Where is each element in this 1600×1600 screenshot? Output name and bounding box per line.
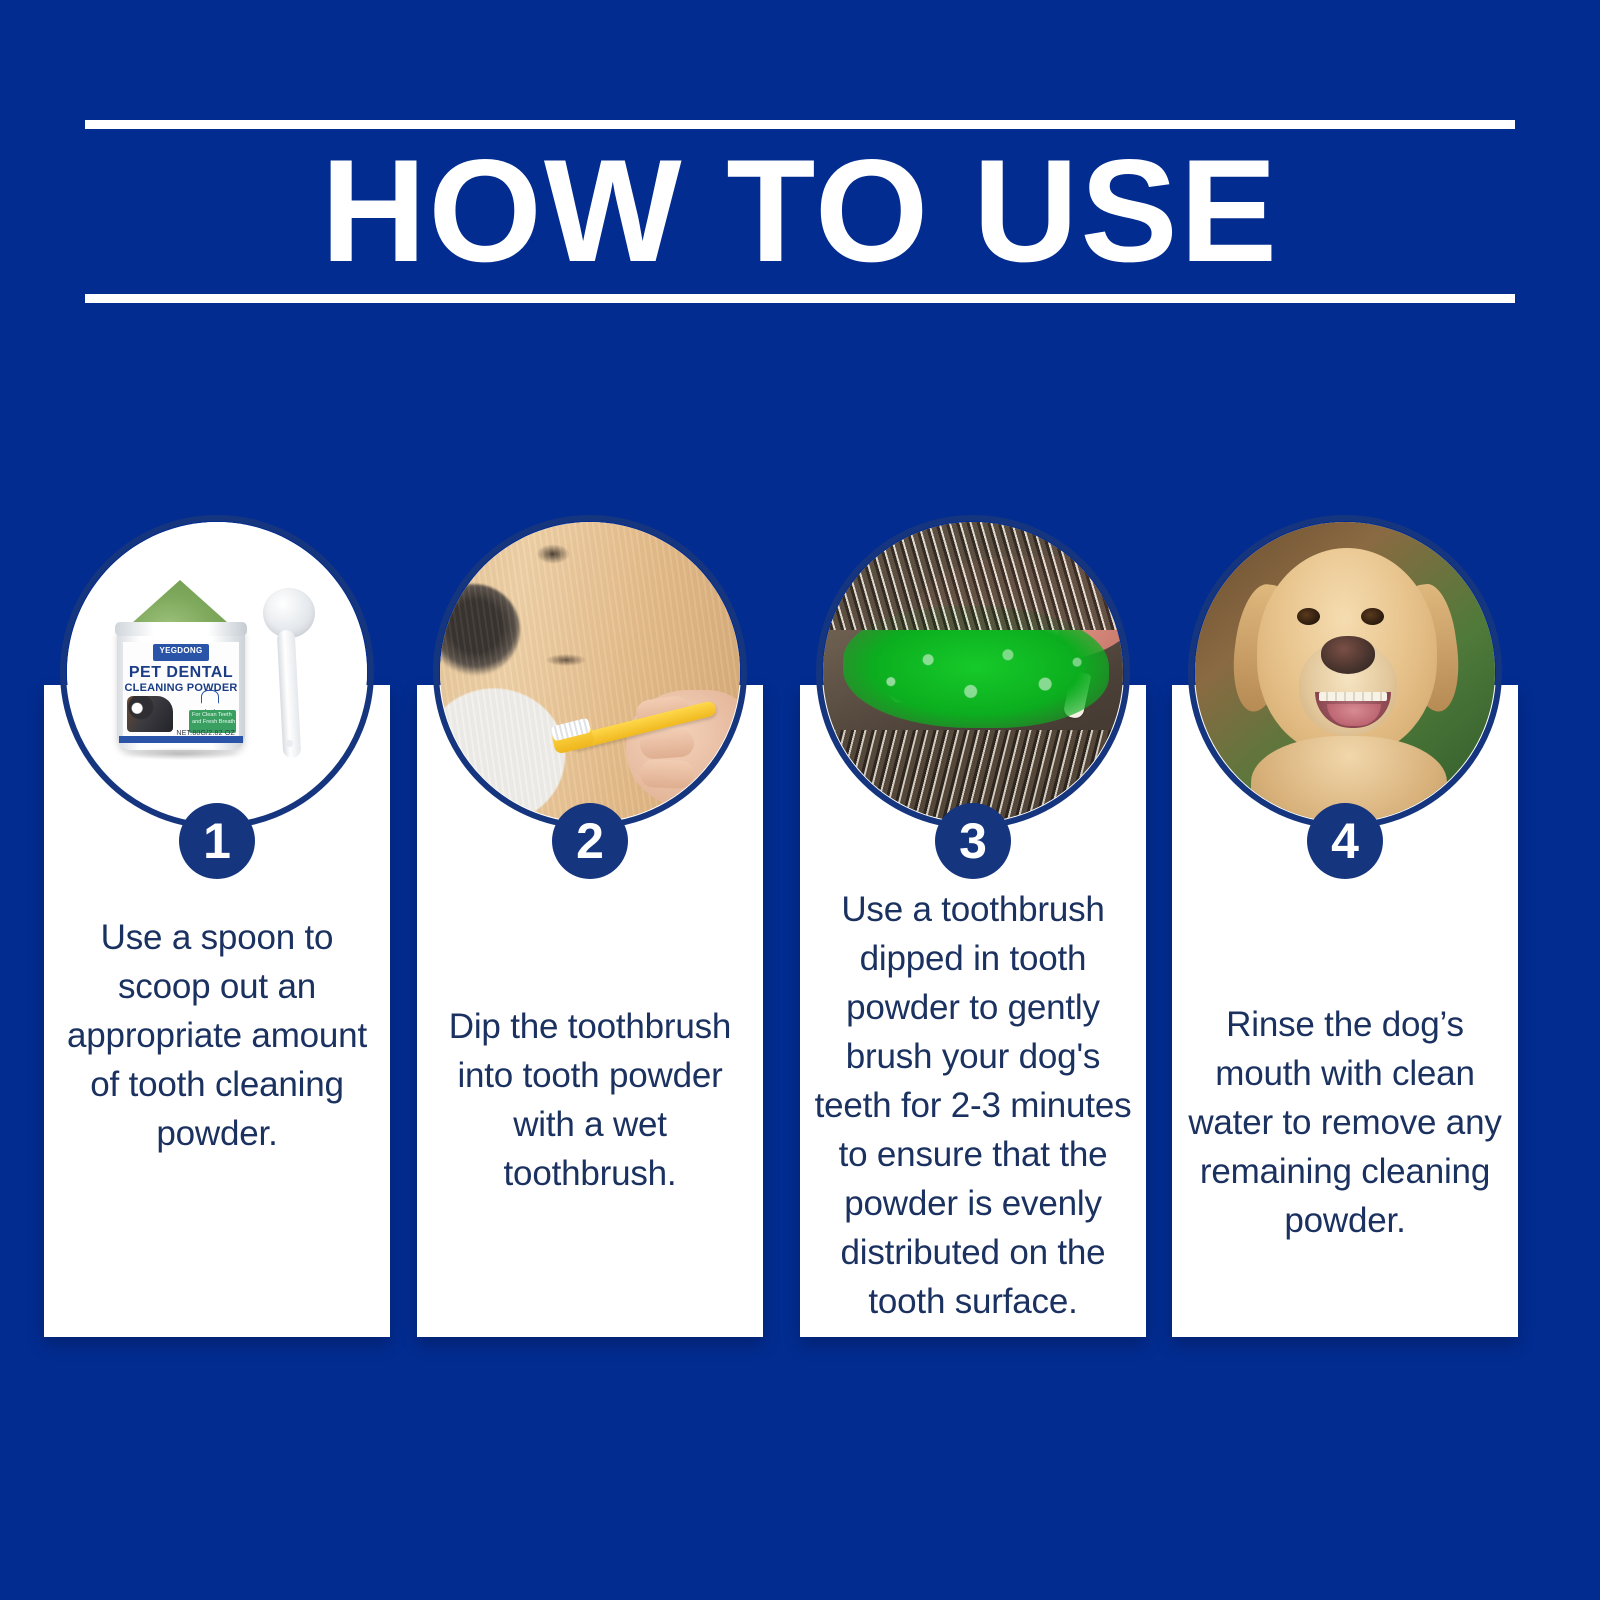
tooth-icon bbox=[201, 690, 219, 710]
step-card-1[interactable]: YEGDONG PET DENTAL CLEANING POWDER For C… bbox=[44, 685, 390, 1337]
step-2-image bbox=[440, 522, 740, 822]
step-card-4[interactable]: 4 Rinse the dog’s mouth with clean water… bbox=[1172, 685, 1518, 1337]
hand-finger bbox=[640, 759, 695, 789]
step-2-number-badge: 2 bbox=[552, 803, 628, 879]
jar-shadow bbox=[123, 748, 239, 760]
step-2-text: Dip the toothbrush into tooth powder wit… bbox=[431, 1002, 749, 1198]
step-card-2[interactable]: 2 Dip the toothbrush into tooth powder w… bbox=[417, 685, 763, 1337]
label-title: PET DENTAL bbox=[123, 664, 239, 682]
hand-finger bbox=[639, 728, 695, 760]
step-3-image bbox=[823, 522, 1123, 822]
step-1-number-badge: 1 bbox=[179, 803, 255, 879]
dog-teeth-green-foam-photo bbox=[823, 522, 1123, 822]
step-4-text: Rinse the dog’s mouth with clean water t… bbox=[1186, 1000, 1504, 1245]
step-1-text: Use a spoon to scoop out an appropriate … bbox=[58, 913, 376, 1158]
happy-labrador-photo bbox=[1195, 522, 1495, 822]
infographic-page: HOW TO USE YEGDONG PET DENTAL CLEANING P… bbox=[0, 0, 1600, 1600]
label-subtitle: CLEANING POWDER bbox=[123, 682, 239, 694]
dog-eye-right bbox=[1361, 608, 1384, 625]
step-1-image: YEGDONG PET DENTAL CLEANING POWDER For C… bbox=[67, 522, 367, 822]
dog-eye-left bbox=[1297, 608, 1320, 625]
dog-fur-upper bbox=[823, 522, 1123, 630]
jar-lip bbox=[115, 622, 247, 636]
dog-with-toothbrush-photo bbox=[440, 522, 740, 822]
jar-label: YEGDONG PET DENTAL CLEANING POWDER For C… bbox=[123, 642, 239, 738]
product-jar-with-scoop-photo: YEGDONG PET DENTAL CLEANING POWDER For C… bbox=[67, 522, 367, 822]
step-4-number-badge: 4 bbox=[1307, 803, 1383, 879]
step-card-3[interactable]: 3 Use a toothbrush dipped in tooth powde… bbox=[800, 685, 1146, 1337]
steps-container: YEGDONG PET DENTAL CLEANING POWDER For C… bbox=[0, 0, 1600, 1600]
dog-nose bbox=[1321, 636, 1375, 674]
step-3-text: Use a toothbrush dipped in tooth powder … bbox=[814, 885, 1132, 1326]
brand-name: YEGDONG bbox=[153, 646, 209, 655]
jar-base-stripe bbox=[119, 736, 243, 743]
dog-teeth bbox=[1319, 692, 1387, 701]
step-4-image bbox=[1195, 522, 1495, 822]
step-3-number-badge: 3 bbox=[935, 803, 1011, 879]
dog-illustration-icon bbox=[127, 696, 173, 732]
measuring-spoon-hole bbox=[286, 740, 293, 747]
